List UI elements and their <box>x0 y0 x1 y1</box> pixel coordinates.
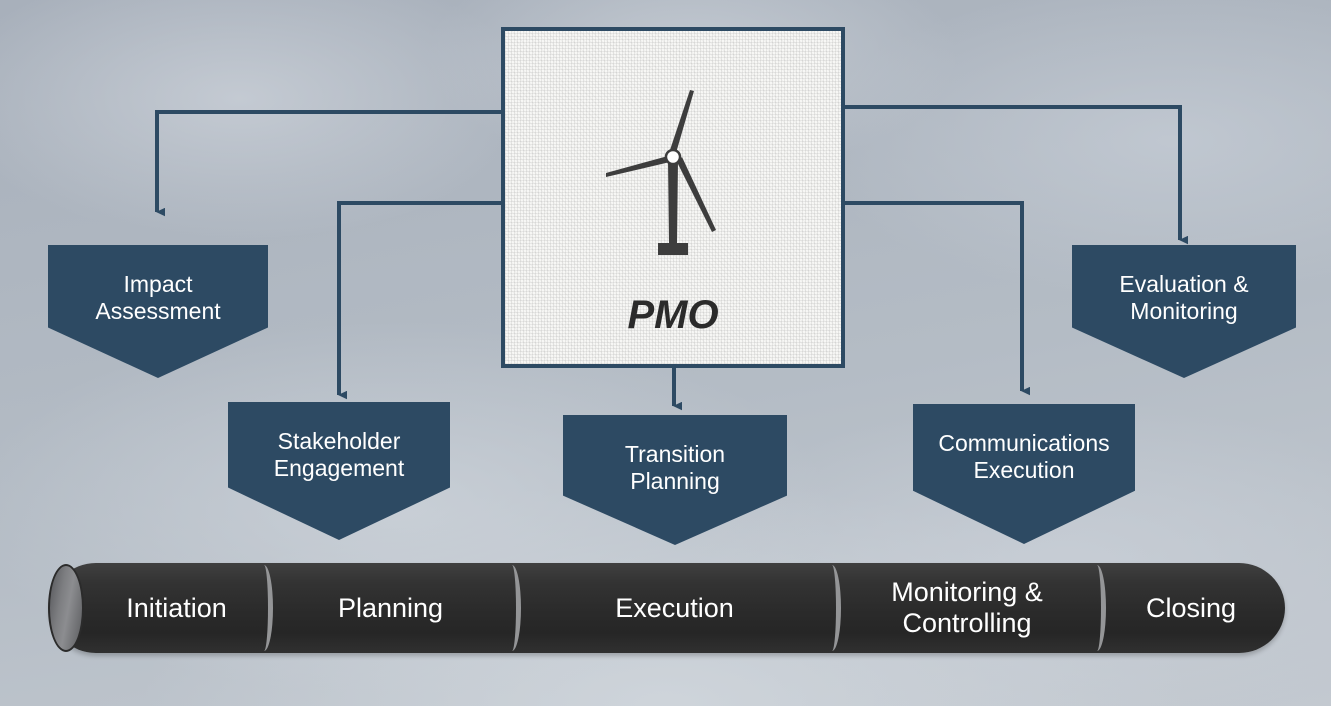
pipeline-phase-closing[interactable]: Closing <box>1106 563 1276 653</box>
phase-line-1: Closing <box>1146 593 1236 623</box>
pmo-center-card[interactable]: PMO <box>501 27 845 368</box>
callout-evaluation-monitoring[interactable]: Evaluation & Monitoring <box>1072 245 1296 378</box>
phase-line-1: Execution <box>615 593 734 623</box>
pipeline-left-cap <box>48 564 84 652</box>
callout-line-2: Execution <box>973 457 1074 483</box>
phase-line-1: Monitoring & <box>891 577 1043 607</box>
callout-impact-assessment[interactable]: Impact Assessment <box>48 245 268 378</box>
phase-line-2: Controlling <box>902 608 1031 638</box>
connector-evaluation-monitoring <box>845 107 1180 240</box>
callout-transition-planning[interactable]: Transition Planning <box>563 415 787 545</box>
pipeline-phase-planning[interactable]: Planning <box>273 563 508 653</box>
callout-line-1: Impact <box>123 271 192 297</box>
callout-line-2: Assessment <box>95 298 220 324</box>
callout-line-1: Transition <box>625 441 725 467</box>
pmo-label: PMO <box>505 293 841 338</box>
callout-line-1: Evaluation & <box>1119 271 1248 297</box>
connector-communications-execution <box>845 203 1022 391</box>
wind-turbine-icon <box>598 87 748 272</box>
phase-line-1: Initiation <box>126 593 227 623</box>
callout-line-2: Engagement <box>274 455 404 481</box>
callout-communications-execution[interactable]: Communications Execution <box>913 404 1135 544</box>
connector-impact-assessment <box>157 112 501 212</box>
phase-line-1: Planning <box>338 593 443 623</box>
pipeline-phase-initiation[interactable]: Initiation <box>85 563 268 653</box>
callout-line-2: Monitoring <box>1130 298 1237 324</box>
callout-line-1: Stakeholder <box>278 428 401 454</box>
connector-stakeholder-engagement <box>339 203 501 395</box>
pipeline-phase-monitoring-controlling[interactable]: Monitoring & Controlling <box>841 563 1093 653</box>
project-phase-pipeline: Initiation Planning Execution Monitoring… <box>50 563 1285 653</box>
pipeline-phase-execution[interactable]: Execution <box>521 563 828 653</box>
callout-line-2: Planning <box>630 468 720 494</box>
callout-stakeholder-engagement[interactable]: Stakeholder Engagement <box>228 402 450 540</box>
callout-line-1: Communications <box>938 430 1109 456</box>
diagram-canvas: PMO Impact Assessment Stakeholder Engage… <box>0 0 1331 706</box>
